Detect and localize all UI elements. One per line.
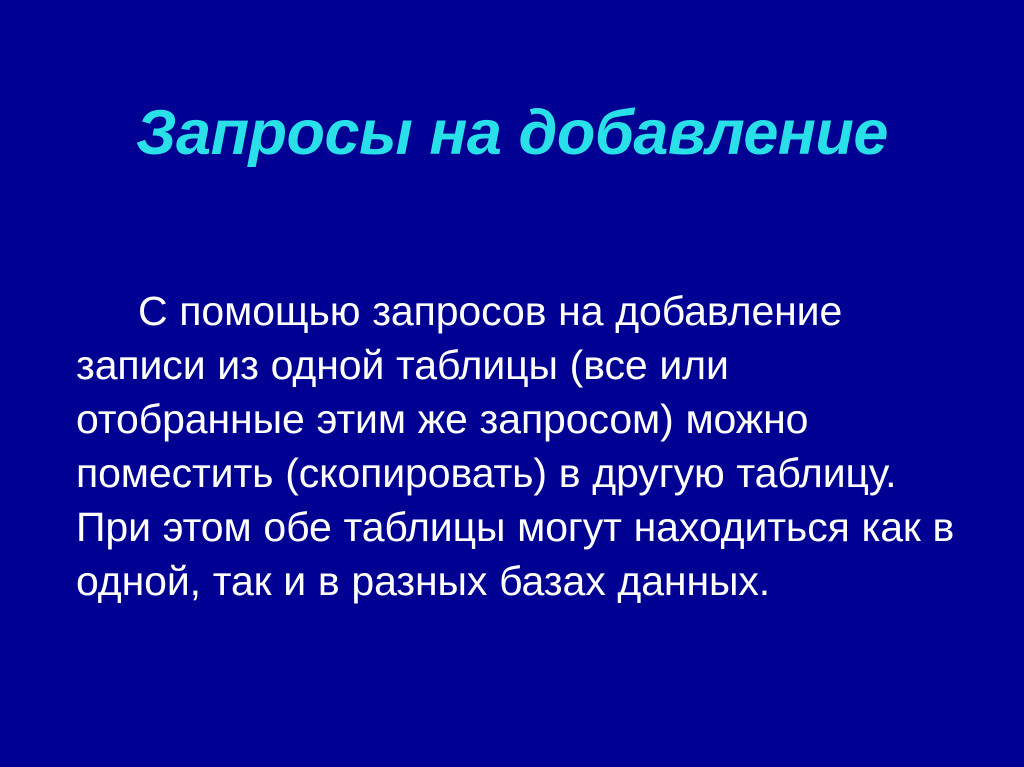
slide-title: Запросы на добавление (0, 100, 1024, 166)
slide-body-text: С помощью запросов на добавление записи … (76, 284, 956, 608)
presentation-slide: Запросы на добавление С помощью запросов… (0, 0, 1024, 767)
